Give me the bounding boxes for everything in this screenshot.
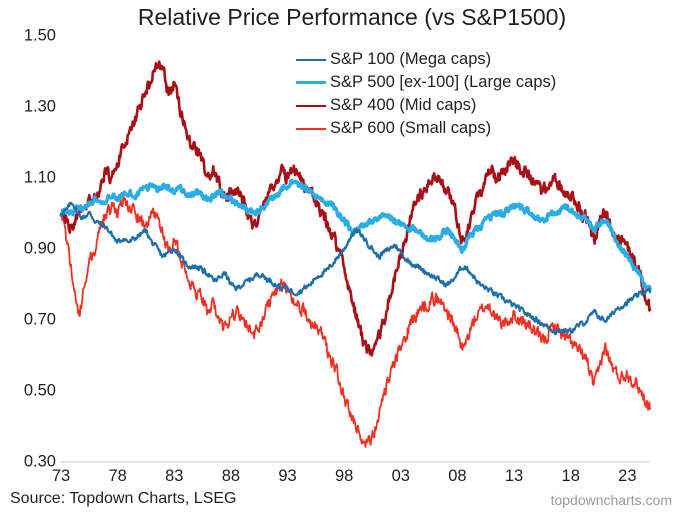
x-axis-tick-label: 03 (392, 467, 410, 486)
legend-color-swatch-icon (296, 59, 326, 61)
x-axis-tick-label: 83 (165, 467, 183, 486)
legend-item[interactable]: S&P 500 [ex-100] (Large caps) (296, 71, 596, 94)
watermark: topdowncharts.com (551, 492, 672, 508)
legend-item-label: S&P 400 (Mid caps) (330, 97, 476, 114)
legend-item[interactable]: S&P 600 (Small caps) (296, 117, 596, 140)
chart-legend: S&P 100 (Mega caps)S&P 500 [ex-100] (Lar… (296, 48, 596, 140)
x-axis-tick-label: 18 (562, 467, 580, 486)
legend-color-swatch-icon (296, 81, 326, 84)
x-axis-tick-label: 78 (108, 467, 126, 486)
series-line (61, 197, 650, 447)
x-axis-tick-label: 23 (618, 467, 636, 486)
x-axis-tick-label: 13 (505, 467, 523, 486)
series-line (61, 180, 650, 290)
legend-color-swatch-icon (296, 128, 326, 130)
legend-item[interactable]: S&P 400 (Mid caps) (296, 94, 596, 117)
x-axis-tick-label: 73 (52, 467, 70, 486)
x-axis-tick-label: 88 (222, 467, 240, 486)
legend-color-swatch-icon (296, 105, 326, 107)
legend-item-label: S&P 100 (Mega caps) (330, 51, 491, 68)
legend-item[interactable]: S&P 100 (Mega caps) (296, 48, 596, 71)
x-axis-tick-label: 93 (278, 467, 296, 486)
chart-container: Relative Price Performance (vs S&P1500) … (0, 0, 680, 515)
source-note: Source: Topdown Charts, LSEG (10, 490, 237, 508)
x-axis-tick-label: 08 (448, 467, 466, 486)
x-axis-tick-label: 98 (335, 467, 353, 486)
legend-item-label: S&P 600 (Small caps) (330, 120, 491, 137)
legend-item-label: S&P 500 [ex-100] (Large caps) (330, 74, 556, 91)
